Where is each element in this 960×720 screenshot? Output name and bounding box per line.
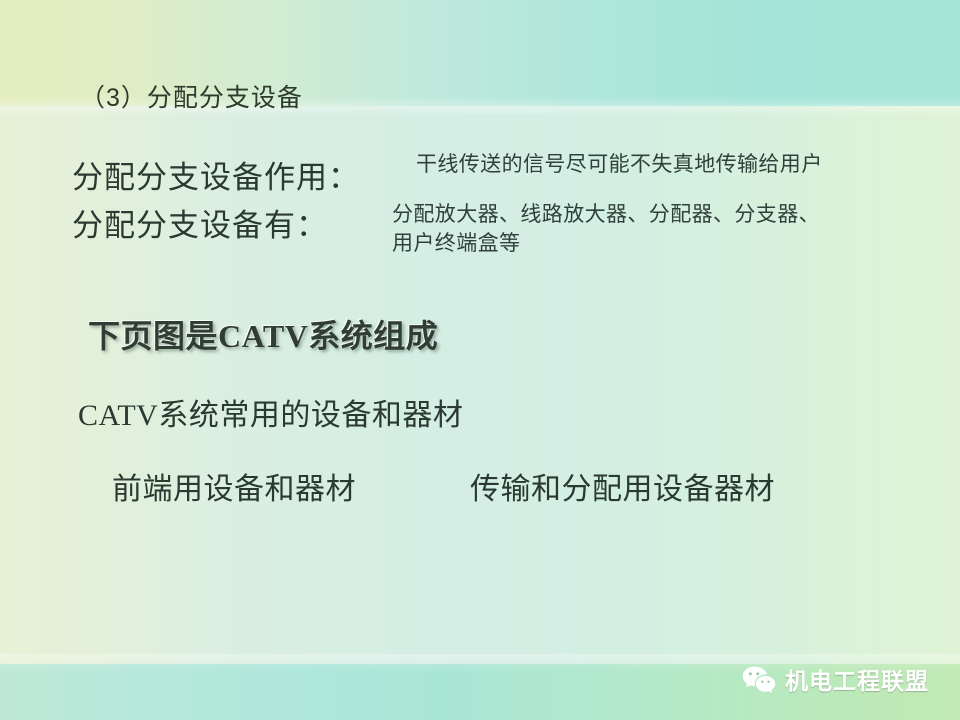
- devices-description: 分配放大器、线路放大器、分配器、分支器、 用户终端盒等: [392, 200, 820, 258]
- catv-common-equipment-heading: CATV系统常用的设备和器材: [78, 390, 463, 434]
- role-description: 干线传送的信号尽可能不失真地传输给用户: [416, 148, 823, 178]
- watermark-label: 机电工程联盟: [785, 662, 929, 696]
- equipment-column-transmission: 传输和分配用设备器材: [470, 464, 775, 508]
- next-page-title: 下页图是CATV系统组成: [88, 311, 438, 357]
- wechat-icon: [742, 665, 776, 693]
- equipment-column-frontend: 前端用设备和器材: [112, 464, 356, 508]
- section-heading: （3）分配分支设备: [80, 78, 303, 114]
- watermark: 机电工程联盟: [742, 662, 929, 696]
- devices-label: 分配分支设备有：: [72, 200, 328, 245]
- slide-canvas: （3）分配分支设备 分配分支设备作用： 干线传送的信号尽可能不失真地传输给用户 …: [0, 0, 960, 720]
- role-label: 分配分支设备作用：: [72, 152, 360, 197]
